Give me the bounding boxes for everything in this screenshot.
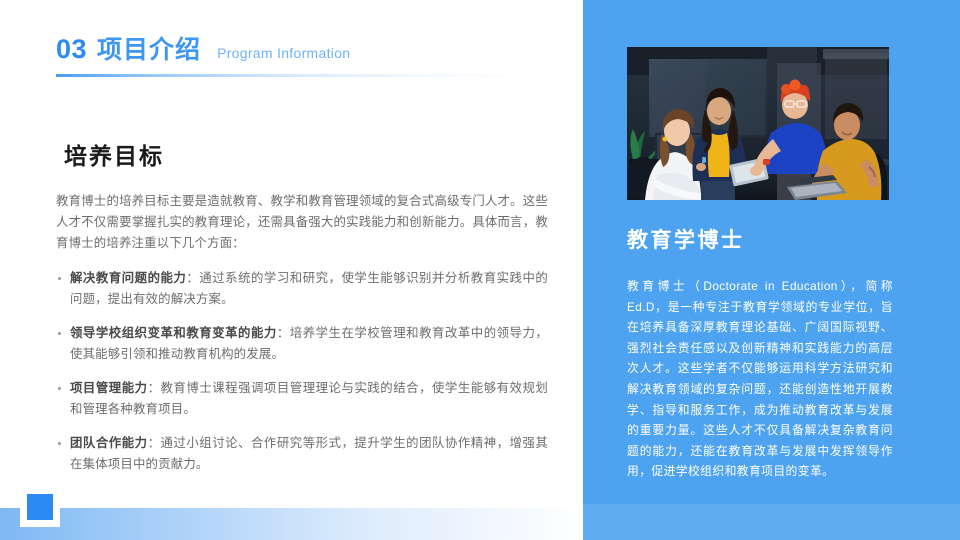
corner-square-decoration <box>20 487 60 527</box>
section-header: 03 项目介绍 Program Information <box>56 36 536 77</box>
team-photo-image <box>627 47 889 200</box>
panel-footer-strip <box>583 504 960 540</box>
section-title-cn: 项目介绍 <box>97 38 201 63</box>
header-underline <box>56 74 534 77</box>
panel-paragraph: 教育博士（Doctorate in Education），简称Ed.D，是一种专… <box>627 276 893 482</box>
intro-paragraph: 教育博士的培养目标主要是造就教育、教学和教育管理领域的复合式高级专门人才。这些人… <box>56 191 548 254</box>
section-title-en: Program Information <box>217 46 350 60</box>
list-item-label: 团队合作能力 <box>70 436 148 450</box>
panel-heading: 教育学博士 <box>627 224 745 254</box>
list-item: 项目管理能力：教育博士课程强调项目管理理论与实践的结合，使学生能够有效规划和管理… <box>56 378 548 420</box>
left-content: 培养目标 教育博士的培养目标主要是造就教育、教学和教育管理领域的复合式高级专门人… <box>56 137 548 488</box>
bottom-gradient-band <box>0 508 583 540</box>
right-info-panel: 教育学博士 教育博士（Doctorate in Education），简称Ed.… <box>583 0 960 540</box>
corner-square-fill <box>27 494 53 520</box>
list-item-label: 项目管理能力 <box>70 381 148 395</box>
slide: 教育学博士 教育博士（Doctorate in Education），简称Ed.… <box>0 0 960 540</box>
list-item-label: 领导学校组织变革和教育变革的能力 <box>70 326 277 340</box>
list-item: 领导学校组织变革和教育变革的能力：培养学生在学校管理和教育改革中的领导力，使其能… <box>56 323 548 365</box>
list-item: 团队合作能力：通过小组讨论、合作研究等形式，提升学生的团队协作精神，增强其在集体… <box>56 433 548 475</box>
section-number: 03 <box>56 36 87 63</box>
list-item-label: 解决教育问题的能力 <box>70 271 186 285</box>
bullet-list: 解决教育问题的能力：通过系统的学习和研究，使学生能够识别并分析教育实践中的问题，… <box>56 268 548 475</box>
team-photo <box>627 47 889 200</box>
list-item: 解决教育问题的能力：通过系统的学习和研究，使学生能够识别并分析教育实践中的问题，… <box>56 268 548 310</box>
section-header-row: 03 项目介绍 Program Information <box>56 36 536 63</box>
page-title: 培养目标 <box>64 137 548 171</box>
